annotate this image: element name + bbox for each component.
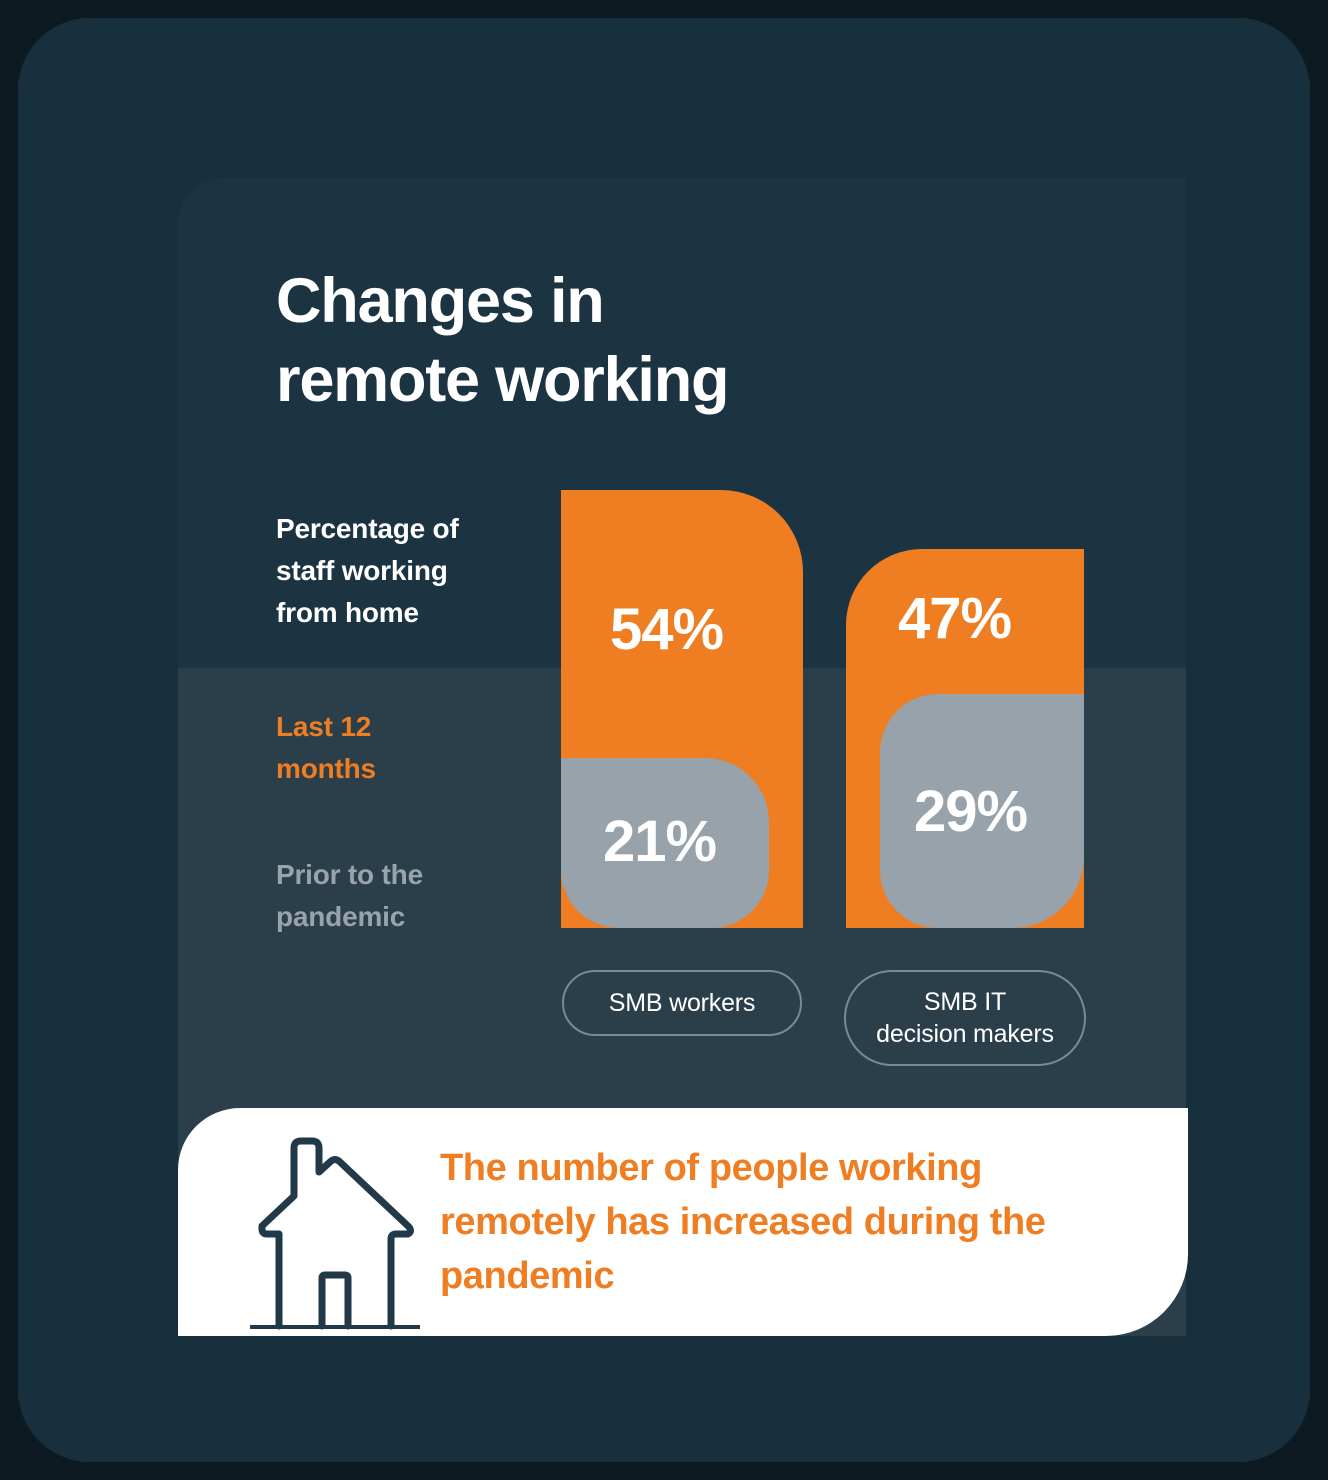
callout-text: The number of people working remotely ha… bbox=[440, 1142, 1080, 1304]
callout-card: The number of people working remotely ha… bbox=[178, 1108, 1188, 1336]
house-icon bbox=[250, 1130, 420, 1330]
bar-value-smb-workers-prior-to-pandemic: 21% bbox=[603, 808, 716, 875]
category-pill-smb-workers[interactable]: SMB workers bbox=[562, 970, 802, 1036]
bar-value-smb-it-decision-makers-last-12-months: 47% bbox=[898, 585, 1011, 652]
bar-value-smb-workers-last-12-months: 54% bbox=[610, 596, 723, 663]
bar-value-smb-it-decision-makers-prior-to-pandemic: 29% bbox=[914, 778, 1027, 845]
outer-frame: Changes inremote working Percentage ofst… bbox=[18, 18, 1310, 1462]
infographic-canvas: Changes inremote working Percentage ofst… bbox=[0, 0, 1328, 1480]
category-pill-smb-it-decision-makers[interactable]: SMB ITdecision makers bbox=[844, 970, 1086, 1066]
